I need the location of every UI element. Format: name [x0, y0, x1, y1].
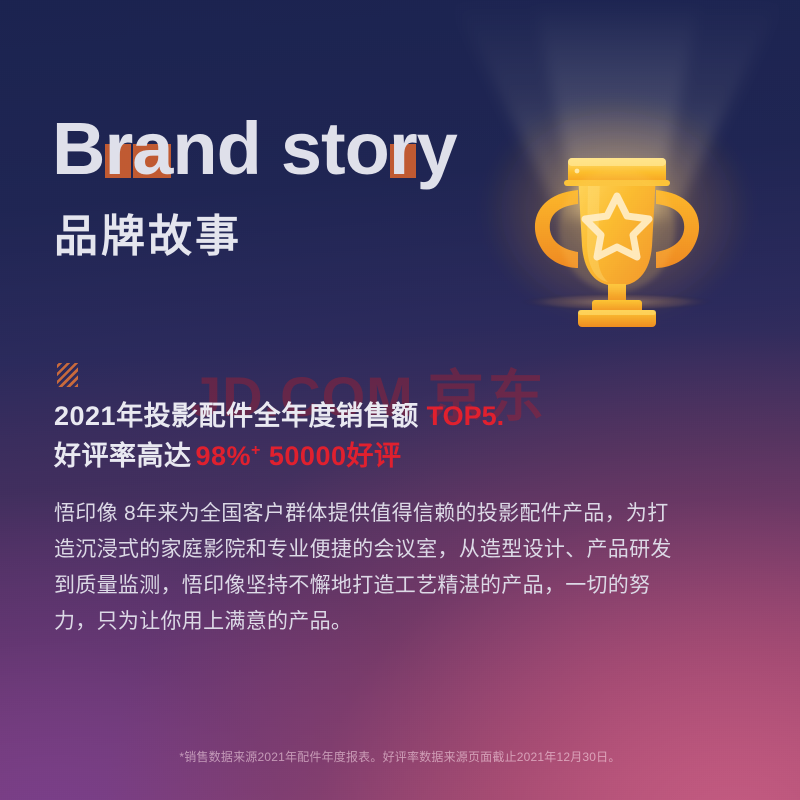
title-letter: t [321, 112, 345, 186]
stat-rating-plus: + [251, 442, 261, 459]
page-subtitle: 品牌故事 [54, 200, 242, 264]
title-letter: B [52, 112, 104, 186]
stat-sales-text: 2021年投影配件全年度销售额 [54, 401, 419, 431]
title-letter: s [281, 112, 321, 186]
trophy-handle-left [535, 190, 578, 268]
brand-description: 悟印像 8年来为全国客户群体提供值得信赖的投影配件产品，为打造沉浸式的家庭影院和… [54, 496, 684, 640]
title-letter: r [104, 112, 132, 186]
trophy-handle-right [656, 190, 699, 268]
stat-rating-label: 好评率高达 [54, 441, 192, 471]
title-letter: d [217, 112, 261, 186]
stat-review-count: 50000好评 [269, 441, 402, 471]
stat-rating-number: 98% [196, 441, 252, 471]
stat-rating-value: 98%+ [196, 441, 261, 471]
title-letter: y [417, 112, 457, 186]
stat-top5-badge: TOP5. [427, 401, 505, 431]
stat-line-sales: 2021年投影配件全年度销售额TOP5. [54, 394, 504, 433]
hatched-square-decoration [57, 363, 78, 387]
title-letter: r [389, 112, 417, 186]
title-letter: o [345, 112, 389, 186]
brand-story-poster: Brandstory 品牌故事 JD.COM京东 2021年投影配件全年度销售额… [0, 0, 800, 800]
title-letter: a [132, 112, 172, 186]
page-title: Brandstory [52, 112, 457, 186]
footnote-disclaimer: *销售数据来源2021年配件年度报表。好评率数据来源页面截止2021年12月30… [0, 748, 800, 765]
title-letter: n [172, 112, 216, 186]
stat-line-rating: 好评率高达98%+50000好评 [54, 434, 405, 473]
